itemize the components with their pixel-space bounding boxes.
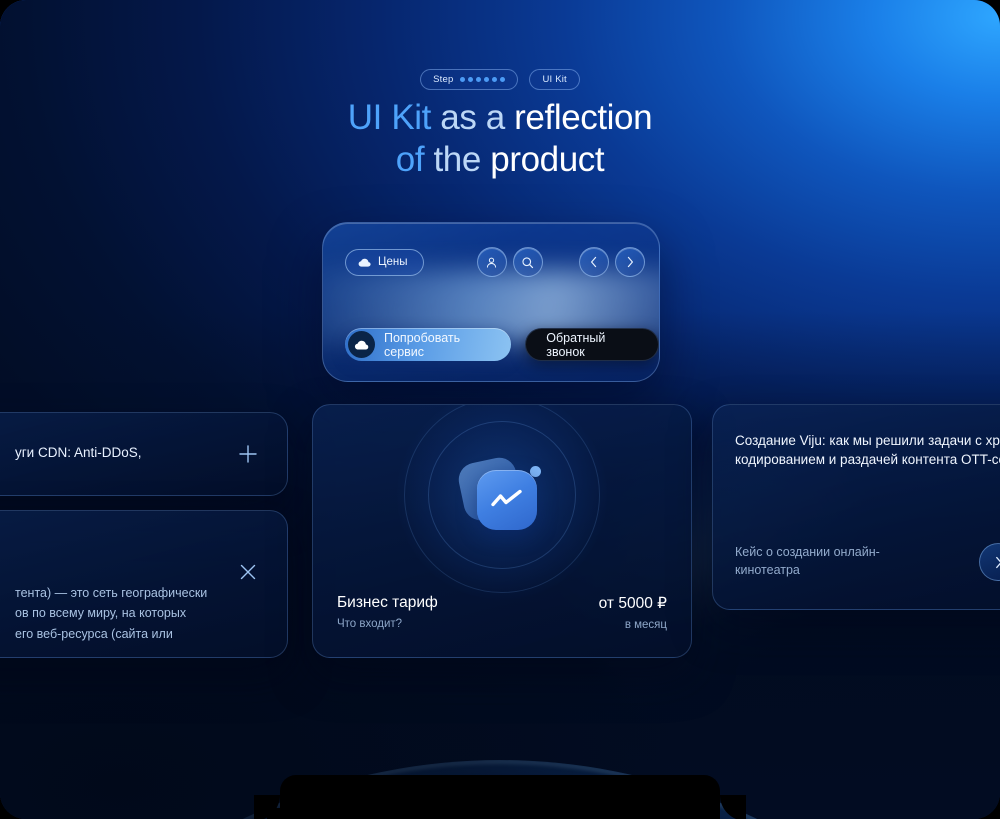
title-part-2: as a (431, 98, 514, 137)
title-part-3: reflection (514, 98, 652, 137)
panel-action-row: Попробовать сервис Обратный звонок (345, 328, 659, 361)
tariff-name: Бизнес тариф (337, 594, 438, 612)
tariff-card[interactable]: Бизнес тариф Что входит? от 5000 ₽ в мес… (312, 404, 692, 658)
search-icon (521, 256, 534, 269)
title-highlight: UI Kit (348, 98, 431, 137)
callback-button[interactable]: Обратный звонок (525, 328, 659, 361)
panel-control-row: Цены (345, 245, 637, 279)
title-part-4: of (396, 140, 434, 179)
title-part-5: the (433, 140, 490, 179)
case-study-card[interactable]: Создание Viju: как мы решили задачи с хр… (712, 404, 1000, 610)
step-badge[interactable]: Step (420, 69, 518, 90)
user-button[interactable] (477, 247, 507, 277)
user-icon (485, 256, 498, 269)
case-study-subtitle: Кейс о создании онлайн-кинотеатра (735, 543, 915, 579)
ui-kit-badge-label: UI Kit (542, 74, 566, 85)
step-badge-label: Step (433, 74, 453, 85)
faq-item-expanded[interactable]: тента) — это сеть географически ов по вс… (0, 510, 288, 658)
trend-line-icon (490, 489, 524, 511)
faq-item-collapsed[interactable]: уги CDN: Anti-DDoS, (0, 412, 288, 496)
search-button[interactable] (513, 247, 543, 277)
header-badges: Step UI Kit (0, 69, 1000, 90)
ui-kit-badge[interactable]: UI Kit (529, 69, 579, 90)
page-title: UI Kit as a reflection of the product (0, 100, 1000, 177)
callback-label: Обратный звонок (546, 331, 638, 359)
icon-front-card (477, 470, 537, 530)
chevron-right-icon (625, 256, 635, 268)
title-part-6: product (490, 140, 604, 179)
chevron-right-icon (993, 556, 1000, 569)
panel-icon-group-right (579, 247, 645, 277)
chart-card-icon (461, 456, 543, 534)
case-next-button[interactable] (979, 543, 1000, 581)
cloud-icon (358, 258, 371, 267)
bottom-dock-notch (280, 775, 720, 819)
cloud-icon (348, 331, 375, 358)
next-button[interactable] (615, 247, 645, 277)
faq-body-line-2: ов по всему миру, на которых (15, 603, 217, 623)
plus-icon[interactable] (237, 443, 259, 465)
faq-body-line-3: его веб-ресурса (сайта или (15, 624, 217, 644)
prev-button[interactable] (579, 247, 609, 277)
case-study-title: Создание Viju: как мы решили задачи с хр… (735, 431, 1000, 469)
ui-kit-showcase-panel: Цены (322, 222, 660, 382)
try-service-button[interactable]: Попробовать сервис (345, 328, 511, 361)
faq-item-title: уги CDN: Anti-DDoS, (15, 445, 142, 460)
close-icon[interactable] (237, 561, 259, 583)
try-service-label: Попробовать сервис (384, 331, 489, 359)
tariff-period: в месяц (625, 619, 667, 631)
chevron-left-icon (589, 256, 599, 268)
tariff-price: от 5000 ₽ (599, 594, 667, 613)
step-dots (460, 77, 505, 82)
faq-body-line-1: тента) — это сеть географически (15, 583, 217, 603)
panel-icon-group-left (477, 247, 543, 277)
app-frame: Step UI Kit UI Kit as a reflection of th… (0, 0, 1000, 819)
faq-item-body: тента) — это сеть географически ов по вс… (15, 583, 217, 644)
tariff-visual (313, 405, 691, 585)
tariff-note[interactable]: Что входит? (337, 618, 438, 630)
tariff-footer: Бизнес тариф Что входит? от 5000 ₽ в мес… (337, 594, 667, 631)
prices-pill-button[interactable]: Цены (345, 249, 424, 276)
prices-pill-label: Цены (378, 256, 408, 268)
